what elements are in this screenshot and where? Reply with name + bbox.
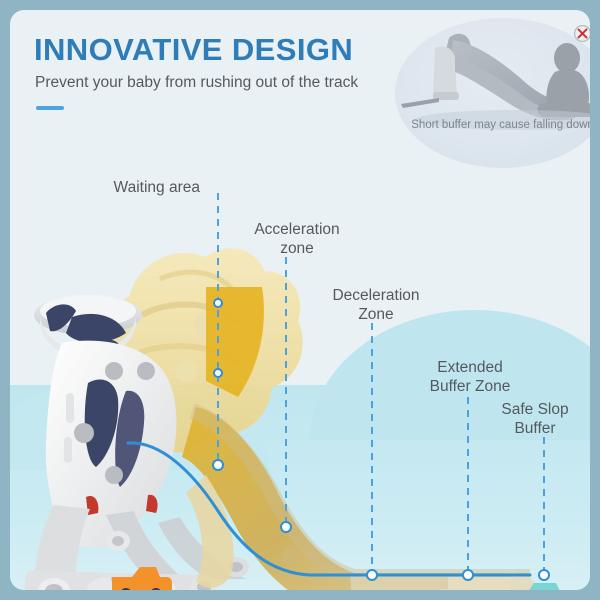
product-scene: Waiting area Acceleration zone Decelerat… (10, 120, 590, 590)
callout-label-extended-buffer-zone: Extended Buffer Zone (400, 358, 540, 396)
infographic-root: INNOVATIVE DESIGN Prevent your baby from… (0, 0, 600, 600)
content-card: INNOVATIVE DESIGN Prevent your baby from… (10, 10, 590, 590)
callout-label-safe-slop-buffer: Safe Slop Buffer (480, 400, 590, 438)
page-subtitle: Prevent your baby from rushing out of th… (35, 74, 358, 92)
page-title: INNOVATIVE DESIGN (34, 32, 353, 68)
warning-inset-panel: Short buffer may cause falling down (395, 18, 590, 168)
orange-toy-car-icon (112, 567, 173, 590)
callout-label-deceleration-zone: Deceleration Zone (306, 286, 446, 324)
callout-label-waiting-area: Waiting area (30, 178, 200, 197)
teal-toy-car-icon (508, 583, 576, 590)
no-entry-red-x-icon (573, 24, 590, 43)
inset-illustration (395, 18, 590, 168)
inset-caption: Short buffer may cause falling down (395, 118, 590, 132)
accent-underline (36, 106, 64, 110)
callout-label-acceleration-zone: Acceleration zone (232, 220, 362, 258)
